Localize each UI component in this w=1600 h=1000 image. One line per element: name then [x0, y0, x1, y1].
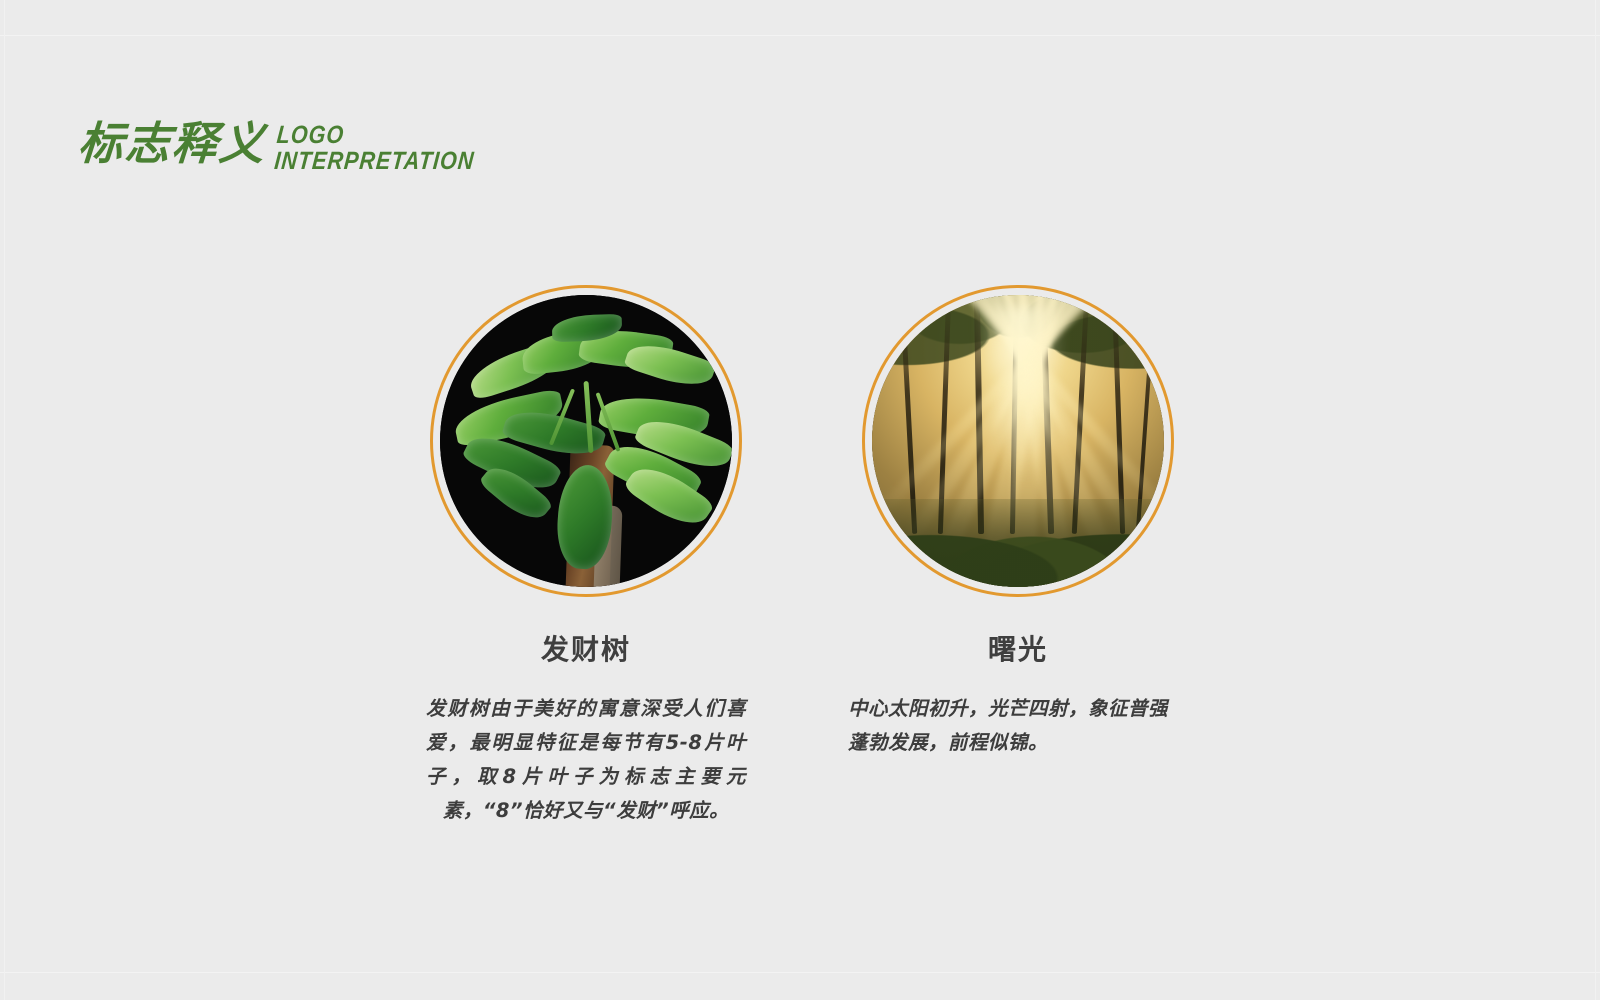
section-header: 标志释义 LOGO INTERPRETATION: [78, 118, 511, 174]
slide-left-edge: [4, 0, 5, 1000]
slide-right-edge: [1595, 0, 1596, 1000]
page-subtitle-line1: LOGO: [276, 122, 478, 148]
sunlit-forest-photo: [872, 295, 1164, 587]
sunlit-forest-illustration: [872, 295, 1164, 587]
item-title-sunrise: 曙光: [862, 628, 1174, 668]
money-tree-photo: [440, 295, 732, 587]
page-subtitle: LOGO INTERPRETATION: [273, 122, 478, 174]
medallion-sunrise: [862, 285, 1174, 597]
item-body-sunrise: 中心太阳初升，光芒四射，象征普强蓬勃发展，前程似锦。: [848, 692, 1168, 760]
medallion-money-tree: [430, 285, 742, 597]
slide-bottom-divider: [0, 972, 1600, 973]
page-title: 标志释义: [76, 118, 268, 170]
page-subtitle-line2: INTERPRETATION: [273, 148, 475, 174]
slide-canvas: 标志释义 LOGO INTERPRETATION: [0, 0, 1600, 1000]
slide-top-divider: [0, 35, 1600, 36]
item-body-money-tree: 发财树由于美好的寓意深受人们喜爱，最明显特征是每节有5-8片叶子，取8片叶子为标…: [426, 692, 746, 828]
item-title-money-tree: 发财树: [430, 628, 742, 668]
money-tree-illustration: [440, 295, 732, 587]
content-column-money-tree: 发财树 发财树由于美好的寓意深受人们喜爱，最明显特征是每节有5-8片叶子，取8片…: [430, 285, 742, 828]
content-column-sunrise: 曙光 中心太阳初升，光芒四射，象征普强蓬勃发展，前程似锦。: [862, 285, 1174, 760]
